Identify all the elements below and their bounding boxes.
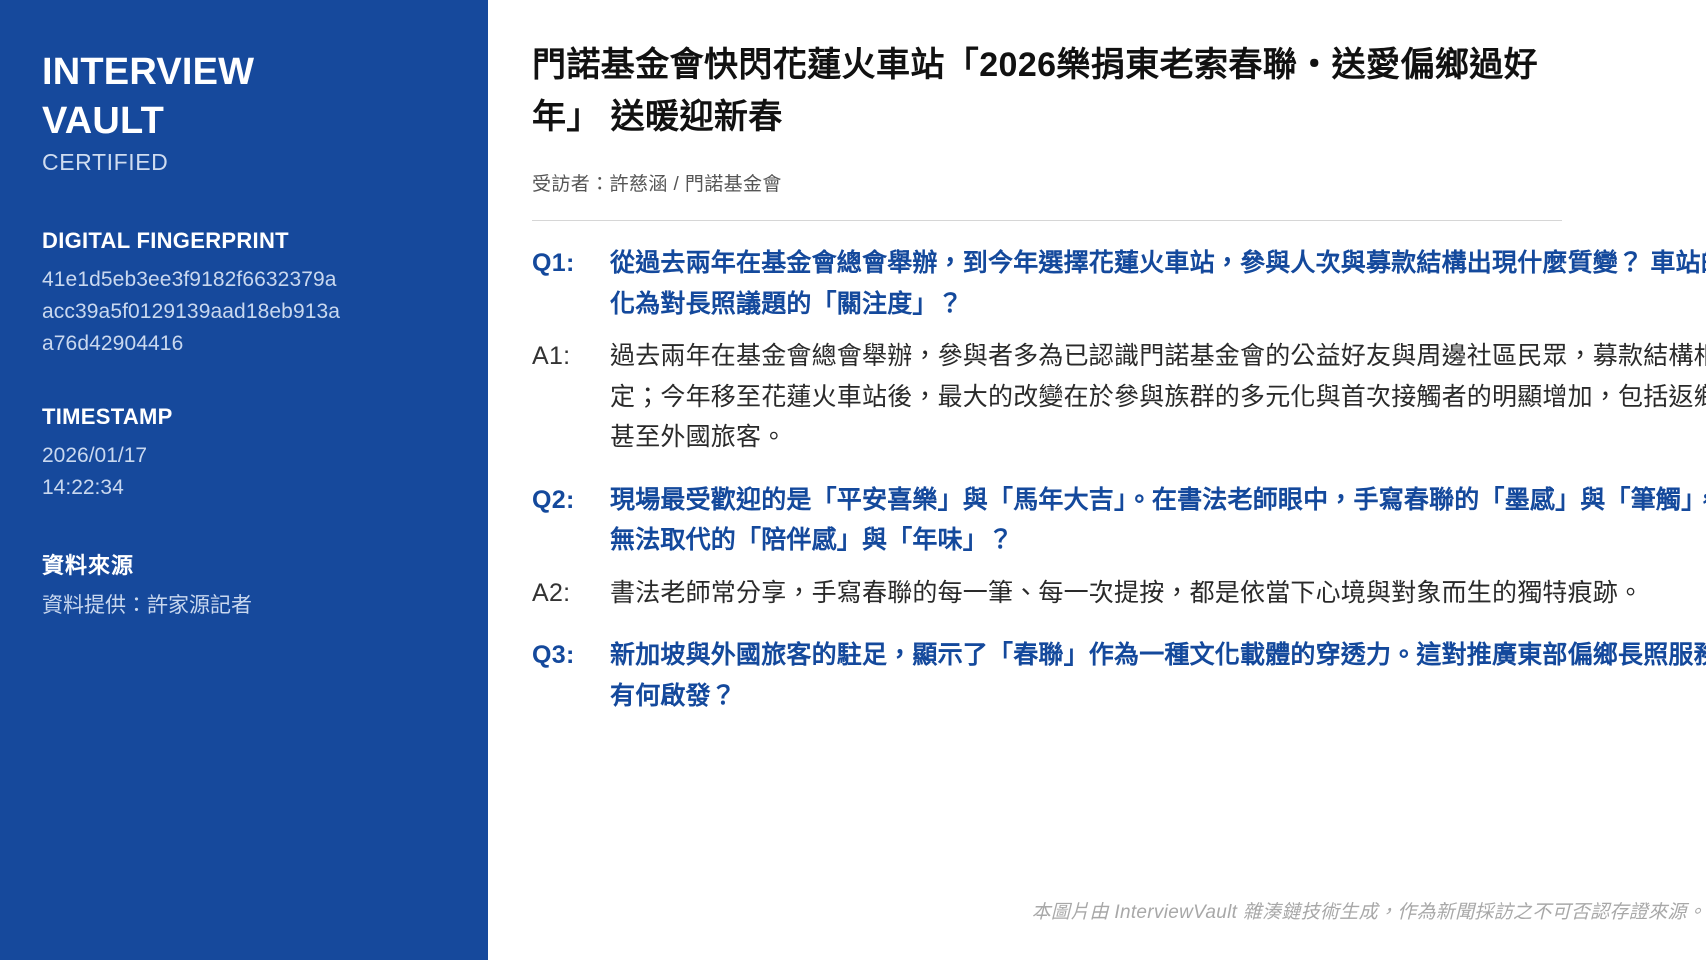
timestamp-label: TIMESTAMP xyxy=(42,404,446,430)
timestamp-date: 2026/01/17 xyxy=(42,440,342,472)
qa-list: Q1:從過去兩年在基金會總會舉辦，到今年選擇花蓮火車站，參與人次與募款結構出現什… xyxy=(532,243,1706,716)
brand-block: INTERVIEW VAULT CERTIFIED xyxy=(42,48,446,176)
digital-fingerprint-label: DIGITAL FINGERPRINT xyxy=(42,228,446,254)
qa-question-row: Q2:現場最受歡迎的是「平安喜樂」與「馬年大吉」。在書法老師眼中，手寫春聯的「墨… xyxy=(532,480,1706,561)
page-title: 門諾基金會快閃花蓮火車站「2026樂捐東老索春聯・送愛偏鄉過好年」 送暖迎新春 xyxy=(532,40,1562,143)
footer-provenance-note: 本圖片由 InterviewVault 雜湊鏈技術生成，作為新聞採訪之不可否認存… xyxy=(488,897,1706,924)
interviewee-byline: 受訪者：許慈涵 / 門諾基金會 xyxy=(532,169,1706,196)
question-tag: Q2: xyxy=(532,480,610,521)
timestamp-block: TIMESTAMP 2026/01/17 14:22:34 xyxy=(42,404,446,504)
source-label: 資料來源 xyxy=(42,548,446,580)
answer-text: 書法老師常分享，手寫春聯的每一筆、每一次提按，都是依當下心境與對象而生的獨特痕跡… xyxy=(610,573,1706,614)
main-content: 門諾基金會快閃花蓮火車站「2026樂捐東老索春聯・送愛偏鄉過好年」 送暖迎新春 … xyxy=(488,0,1706,960)
timestamp-value: 2026/01/17 14:22:34 xyxy=(42,440,342,504)
digital-fingerprint-block: DIGITAL FINGERPRINT 41e1d5eb3ee3f9182f66… xyxy=(42,228,446,360)
certified-interview-page: INTERVIEW VAULT CERTIFIED DIGITAL FINGER… xyxy=(0,0,1706,960)
qa-question-row: Q3:新加坡與外國旅客的駐足，顯示了「春聯」作為一種文化載體的穿透力。這對推廣東… xyxy=(532,635,1706,716)
question-tag: Q1: xyxy=(532,243,610,284)
answer-tag: A1: xyxy=(532,336,610,377)
answer-text: 過去兩年在基金會總會舉辦，參與者多為已認識門諾基金會的公益好友與周邊社區民眾，募… xyxy=(610,336,1706,458)
answer-tag: A2: xyxy=(532,573,610,614)
source-value: 資料提供：許家源記者 xyxy=(42,590,342,622)
brand-title: INTERVIEW VAULT xyxy=(42,48,292,145)
header-divider xyxy=(532,220,1562,221)
question-text: 新加坡與外國旅客的駐足，顯示了「春聯」作為一種文化載體的穿透力。這對推廣東部偏鄉… xyxy=(610,635,1706,716)
qa-answer-row: A2:書法老師常分享，手寫春聯的每一筆、每一次提按，都是依當下心境與對象而生的獨… xyxy=(532,573,1706,614)
sidebar: INTERVIEW VAULT CERTIFIED DIGITAL FINGER… xyxy=(0,0,488,960)
timestamp-time: 14:22:34 xyxy=(42,472,342,504)
qa-answer-row: A1:過去兩年在基金會總會舉辦，參與者多為已認識門諾基金會的公益好友與周邊社區民… xyxy=(532,336,1706,458)
question-tag: Q3: xyxy=(532,635,610,676)
question-text: 從過去兩年在基金會總會舉辦，到今年選擇花蓮火車站，參與人次與募款結構出現什麼質變… xyxy=(610,243,1706,324)
source-block: 資料來源 資料提供：許家源記者 xyxy=(42,548,446,622)
brand-subtitle: CERTIFIED xyxy=(42,149,446,176)
question-text: 現場最受歡迎的是「平安喜樂」與「馬年大吉」。在書法老師眼中，手寫春聯的「墨感」與… xyxy=(610,480,1706,561)
digital-fingerprint-value: 41e1d5eb3ee3f9182f6632379aacc39a5f012913… xyxy=(42,264,342,360)
qa-question-row: Q1:從過去兩年在基金會總會舉辦，到今年選擇花蓮火車站，參與人次與募款結構出現什… xyxy=(532,243,1706,324)
